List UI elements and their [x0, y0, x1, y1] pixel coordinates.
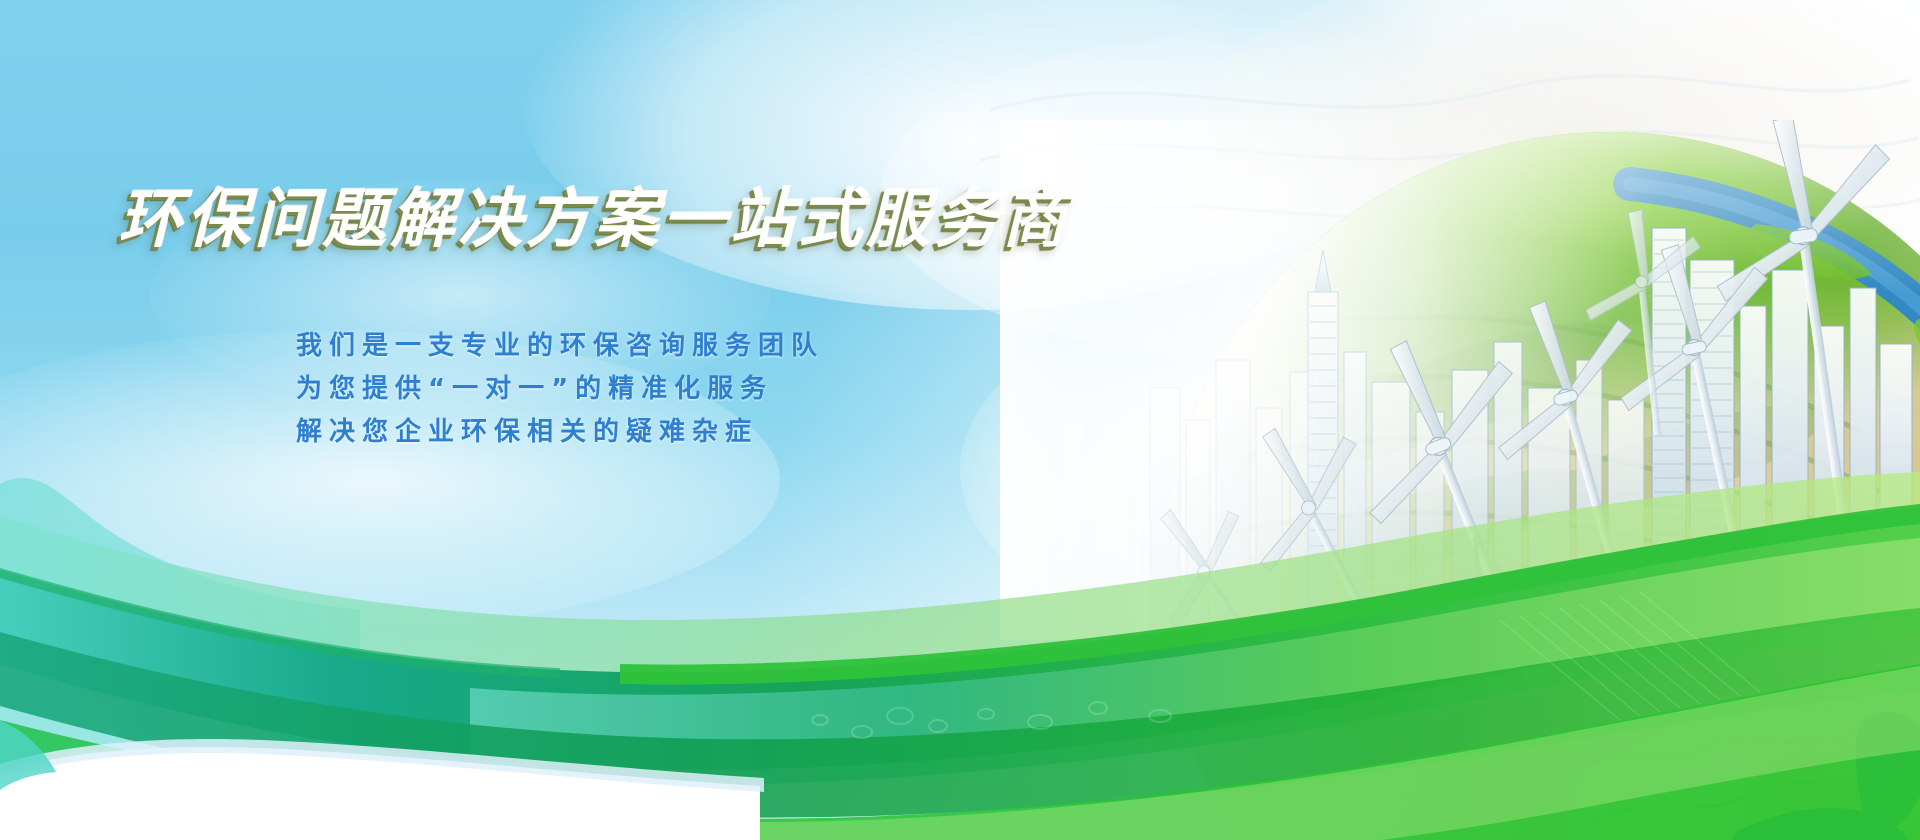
green-wave-ribbon-graphic	[0, 420, 1920, 840]
banner-subtitle-line-2: 为您提供“一对一”的精准化服务	[296, 368, 773, 405]
banner-subtitle-line-3: 解决您企业环保相关的疑难杂症	[296, 411, 758, 448]
banner-subtitle-line-1: 我们是一支专业的环保咨询服务团队	[296, 325, 824, 362]
banner-headline: 环保问题解决方案一站式服务商	[118, 168, 1070, 260]
eco-banner: 环保问题解决方案一站式服务商 我们是一支专业的环保咨询服务团队 为您提供“一对一…	[0, 0, 1920, 840]
